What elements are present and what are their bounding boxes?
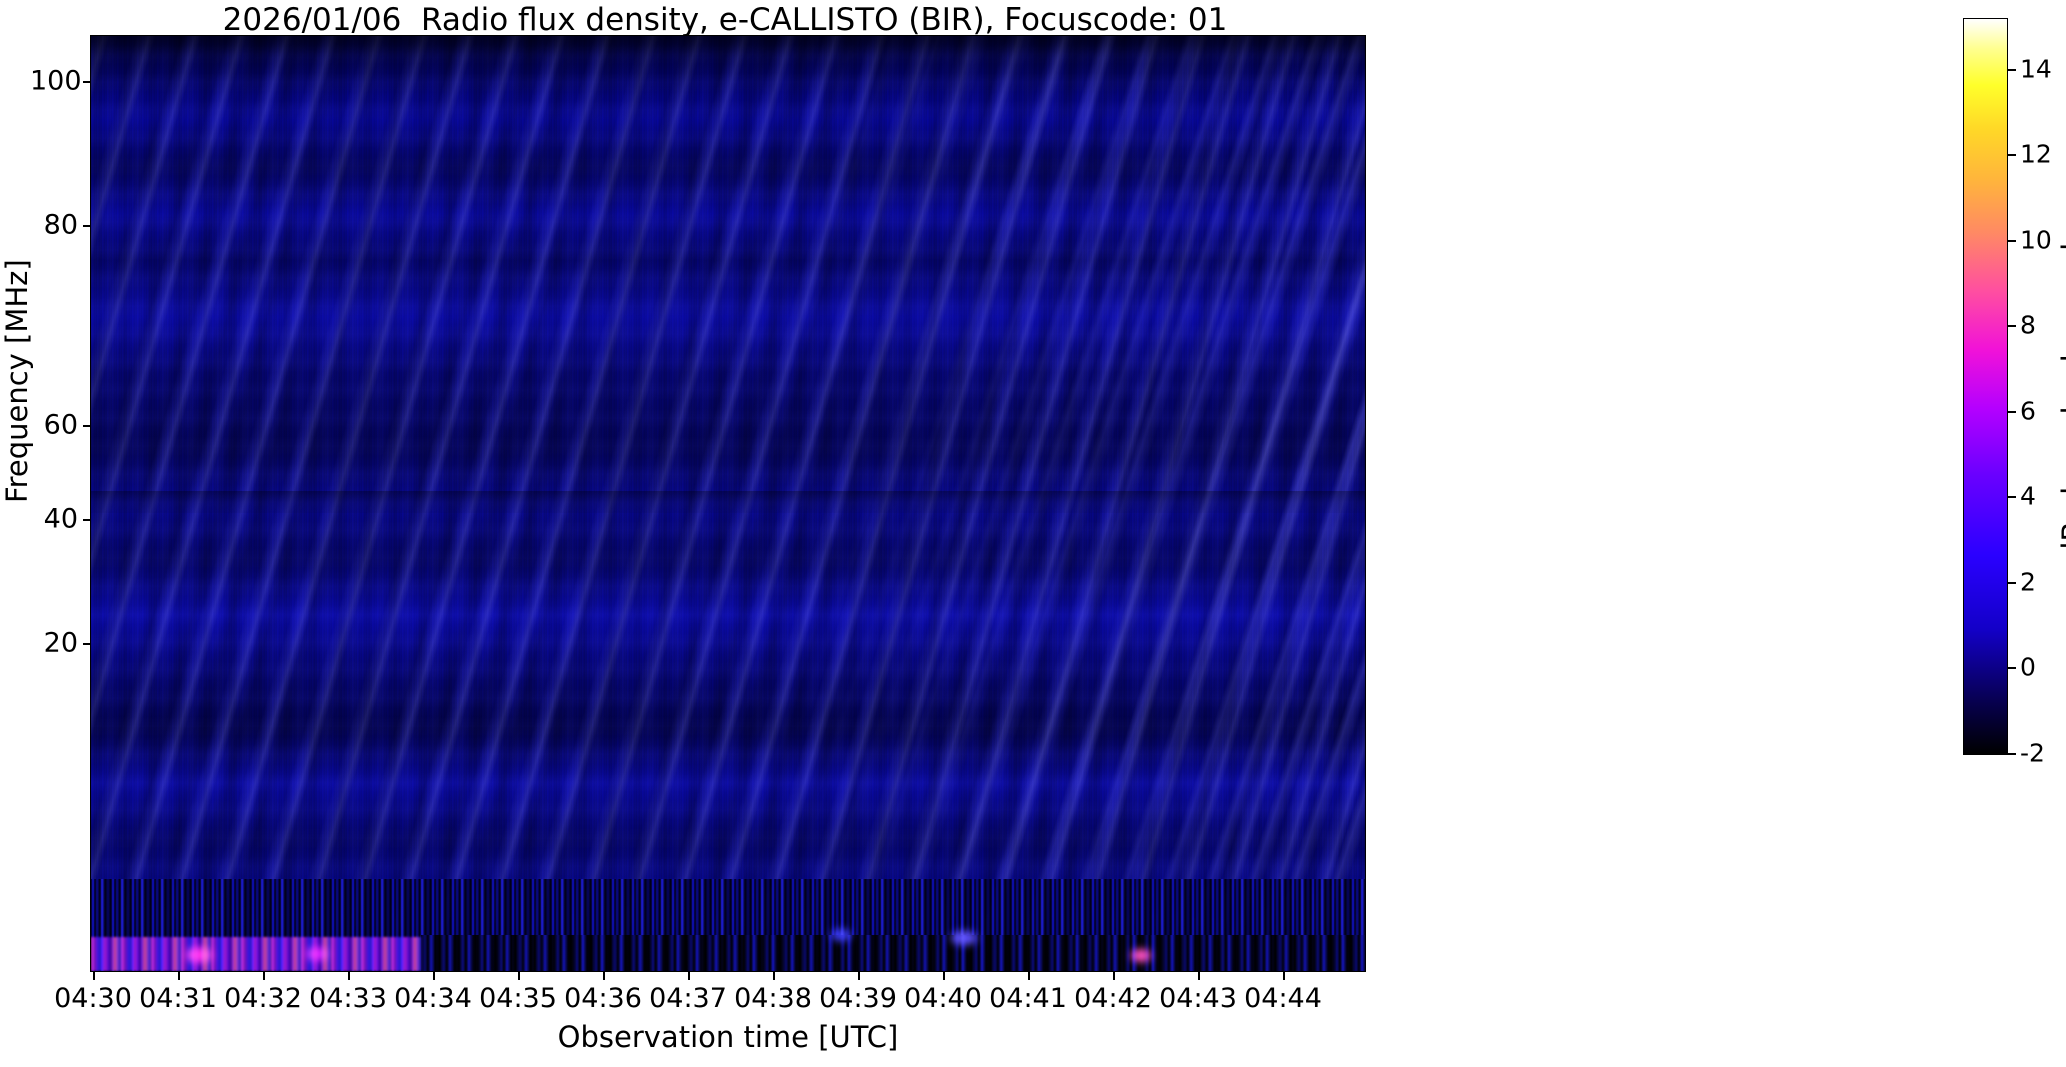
y-tick-mark [83, 225, 91, 227]
x-tick-mark [1283, 972, 1285, 980]
x-tick-label: 04:31 [139, 983, 217, 1014]
x-tick-mark [518, 972, 520, 980]
colorbar-tick-mark [2008, 496, 2016, 498]
colorbar-tick-mark [2008, 154, 2016, 156]
rfi-hotspot [186, 947, 212, 963]
colorbar-tick-label: -2 [2020, 739, 2045, 768]
colorbar-tick-mark [2008, 411, 2016, 413]
x-tick-mark [603, 972, 605, 980]
x-tick-label: 04:38 [734, 983, 812, 1014]
x-tick-label: 04:35 [479, 983, 557, 1014]
x-tick-label: 04:30 [54, 983, 132, 1014]
x-tick-label: 04:44 [1244, 983, 1322, 1014]
rfi-hotspot [1131, 949, 1151, 962]
y-tick-label: 20 [30, 628, 78, 659]
figure-canvas: 2026/01/06 Radio flux density, e-CALLIST… [0, 0, 2066, 1067]
x-tick-mark [1113, 972, 1115, 980]
y-tick-label: 100 [30, 66, 78, 97]
x-tick-label: 04:37 [649, 983, 727, 1014]
y-tick-label: 40 [30, 504, 78, 535]
x-tick-mark [348, 972, 350, 980]
y-tick-mark [83, 425, 91, 427]
rfi-hotspot [306, 947, 328, 961]
colorbar-axis-label: dB above background [2056, 243, 2066, 560]
x-tick-mark [1198, 972, 1200, 980]
x-tick-mark [178, 972, 180, 980]
colorbar-tick-mark [2008, 325, 2016, 327]
y-tick-mark [83, 643, 91, 645]
x-tick-label: 04:39 [819, 983, 897, 1014]
x-tick-label: 04:43 [1159, 983, 1237, 1014]
colorbar-tick-label: 14 [2020, 55, 2052, 84]
x-tick-label: 04:32 [224, 983, 302, 1014]
y-tick-mark [83, 519, 91, 521]
spectrogram-rfi-dark-segment [421, 935, 1365, 971]
colorbar-tick-mark [2008, 667, 2016, 669]
colorbar-tick-mark [2008, 69, 2016, 71]
x-tick-label: 04:36 [564, 983, 642, 1014]
rfi-hotspot [831, 929, 851, 941]
colorbar-tick-mark [2008, 582, 2016, 584]
colorbar-tick-mark [2008, 753, 2016, 755]
colorbar-tick-label: 12 [2020, 140, 2052, 169]
spectrogram-band-40mhz [91, 491, 1365, 513]
colorbar-tick-label: 6 [2020, 397, 2036, 426]
y-tick-mark [83, 81, 91, 83]
colorbar[interactable] [1963, 18, 2008, 755]
colorbar-tick-mark [2008, 240, 2016, 242]
y-axis-label: Frequency [MHz] [0, 259, 34, 503]
x-tick-mark [858, 972, 860, 980]
colorbar-tick-label: 4 [2020, 482, 2036, 511]
spectrogram-plot-area[interactable] [90, 35, 1366, 972]
x-axis-label: Observation time [UTC] [90, 1020, 1366, 1054]
x-tick-mark [93, 972, 95, 980]
y-tick-label: 60 [30, 410, 78, 441]
x-tick-mark [433, 972, 435, 980]
colorbar-tick-label: 2 [2020, 568, 2036, 597]
colorbar-tick-label: 10 [2020, 226, 2052, 255]
x-tick-label: 04:40 [904, 983, 982, 1014]
x-tick-label: 04:41 [989, 983, 1067, 1014]
x-tick-label: 04:42 [1074, 983, 1152, 1014]
colorbar-tick-label: 0 [2020, 653, 2036, 682]
page-title: 2026/01/06 Radio flux density, e-CALLIST… [0, 2, 1450, 38]
colorbar-tick-label: 8 [2020, 311, 2036, 340]
x-tick-mark [688, 972, 690, 980]
spectrogram-rfi-bright-segment [91, 937, 421, 971]
rfi-hotspot [951, 931, 977, 945]
x-tick-mark [1028, 972, 1030, 980]
x-tick-mark [943, 972, 945, 980]
x-tick-mark [263, 972, 265, 980]
x-tick-label: 04:34 [394, 983, 472, 1014]
y-tick-label: 80 [30, 210, 78, 241]
x-tick-mark [773, 972, 775, 980]
x-tick-label: 04:33 [309, 983, 387, 1014]
